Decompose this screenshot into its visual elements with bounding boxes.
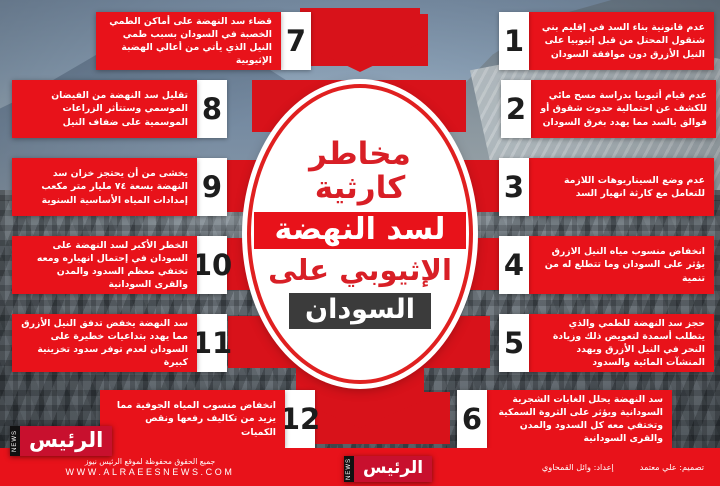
footer-prepared-credit: إعداد: وائل القمحاوي xyxy=(542,462,614,472)
brand-logo-name: الرئيس xyxy=(20,426,112,456)
footer-website-url[interactable]: WWW.ALRAEESNEWS.COM xyxy=(66,467,235,477)
risk-item-4-number: 4 xyxy=(499,236,529,294)
center-title-line-2: كارثية xyxy=(315,173,406,205)
risk-item-6-number: 6 xyxy=(457,390,487,448)
risk-item-7-text: قضاء سد النهضة على أماكن الطمي الخصبة في… xyxy=(96,12,281,70)
risk-item-11-number: 11 xyxy=(197,314,227,372)
risk-item-5-number: 5 xyxy=(499,314,529,372)
risk-item-12-text: انخفاض منسوب المياه الجوفية مما يزيد من … xyxy=(100,390,285,448)
risk-item-12[interactable]: انخفاض منسوب المياه الجوفية مما يزيد من … xyxy=(100,390,315,448)
infographic-poster: مخاطر كارثية لسد النهضة الإثيوبي على الس… xyxy=(0,0,720,486)
risk-item-5-text: حجز سد النهضة للطمي والذي يتطلب أسمدة لت… xyxy=(529,314,714,372)
risk-item-8-number: 8 xyxy=(197,80,227,138)
brand-logo-tag: NEWS xyxy=(10,426,20,456)
risk-item-9-text: يخشى من أن يحتجز خزان سد النهضة بسعة ٧٤ … xyxy=(12,158,197,216)
risk-item-11-text: سد النهضة يخفض تدفق النيل الأزرق مما يهد… xyxy=(12,314,197,372)
risk-item-10-number: 10 xyxy=(197,236,227,294)
risk-item-3[interactable]: عدم وضع السيناريوهات اللازمة للتعامل مع … xyxy=(499,158,714,216)
footer-brand-logo[interactable]: الرئيس NEWS xyxy=(344,456,432,482)
risk-item-12-number: 12 xyxy=(285,390,315,448)
risk-item-2-text: عدم قيام أثيوبيا بدراسة مسح مائي للكشف ع… xyxy=(531,80,716,138)
center-title-banner: لسد النهضة xyxy=(254,212,466,250)
footer-brand-logo-name: الرئيس xyxy=(354,456,432,482)
risk-item-9[interactable]: يخشى من أن يحتجز خزان سد النهضة بسعة ٧٤ … xyxy=(12,158,227,216)
risk-item-7-number: 7 xyxy=(281,12,311,70)
risk-item-9-number: 9 xyxy=(197,158,227,216)
risk-item-10[interactable]: الخطر الأكبر لسد النهضة على السودان في إ… xyxy=(12,236,227,294)
footer-copyright-text: جميع الحقوق محفوظة لموقع الرئيس نيوز xyxy=(85,457,215,466)
risk-item-6-text: سد النهضة يحلل الغابات الشجرية السودانية… xyxy=(487,390,672,448)
risk-item-11[interactable]: سد النهضة يخفض تدفق النيل الأزرق مما يهد… xyxy=(12,314,227,372)
risk-item-1[interactable]: عدم قانونية بناء السد في إقليم بني شنقول… xyxy=(499,12,714,70)
risk-item-3-number: 3 xyxy=(499,158,529,216)
center-title-line-3: الإثيوبي على xyxy=(268,255,452,285)
center-title-line-1: مخاطر xyxy=(309,139,411,171)
risk-item-4[interactable]: انخفاض منسوب مياه النيل الازرق يؤثر على … xyxy=(499,236,714,294)
risk-item-4-text: انخفاض منسوب مياه النيل الازرق يؤثر على … xyxy=(529,236,714,294)
footer-brand-logo-tag: NEWS xyxy=(344,456,354,482)
risk-item-8[interactable]: تقليل سد النهضة من الفيضان الموسمي وستتأ… xyxy=(12,80,227,138)
risk-item-1-number: 1 xyxy=(499,12,529,70)
risk-item-2-number: 2 xyxy=(501,80,531,138)
risk-item-3-text: عدم وضع السيناريوهات اللازمة للتعامل مع … xyxy=(529,158,714,216)
risk-item-7[interactable]: قضاء سد النهضة على أماكن الطمي الخصبة في… xyxy=(96,12,311,70)
risk-item-6[interactable]: سد النهضة يحلل الغابات الشجرية السودانية… xyxy=(457,390,672,448)
center-title-badge: مخاطر كارثية لسد النهضة الإثيوبي على الس… xyxy=(247,84,473,384)
risk-item-1-text: عدم قانونية بناء السد في إقليم بني شنقول… xyxy=(529,12,714,70)
center-title-highlight: السودان xyxy=(289,293,431,329)
risk-item-8-text: تقليل سد النهضة من الفيضان الموسمي وستتأ… xyxy=(12,80,197,138)
footer-design-credit: تصميم: علي معتمد xyxy=(640,462,704,472)
brand-logo[interactable]: الرئيس NEWS xyxy=(10,426,112,456)
risk-item-5[interactable]: حجز سد النهضة للطمي والذي يتطلب أسمدة لت… xyxy=(499,314,714,372)
risk-item-2[interactable]: عدم قيام أثيوبيا بدراسة مسح مائي للكشف ع… xyxy=(501,80,716,138)
risk-item-10-text: الخطر الأكبر لسد النهضة على السودان في إ… xyxy=(12,236,197,294)
